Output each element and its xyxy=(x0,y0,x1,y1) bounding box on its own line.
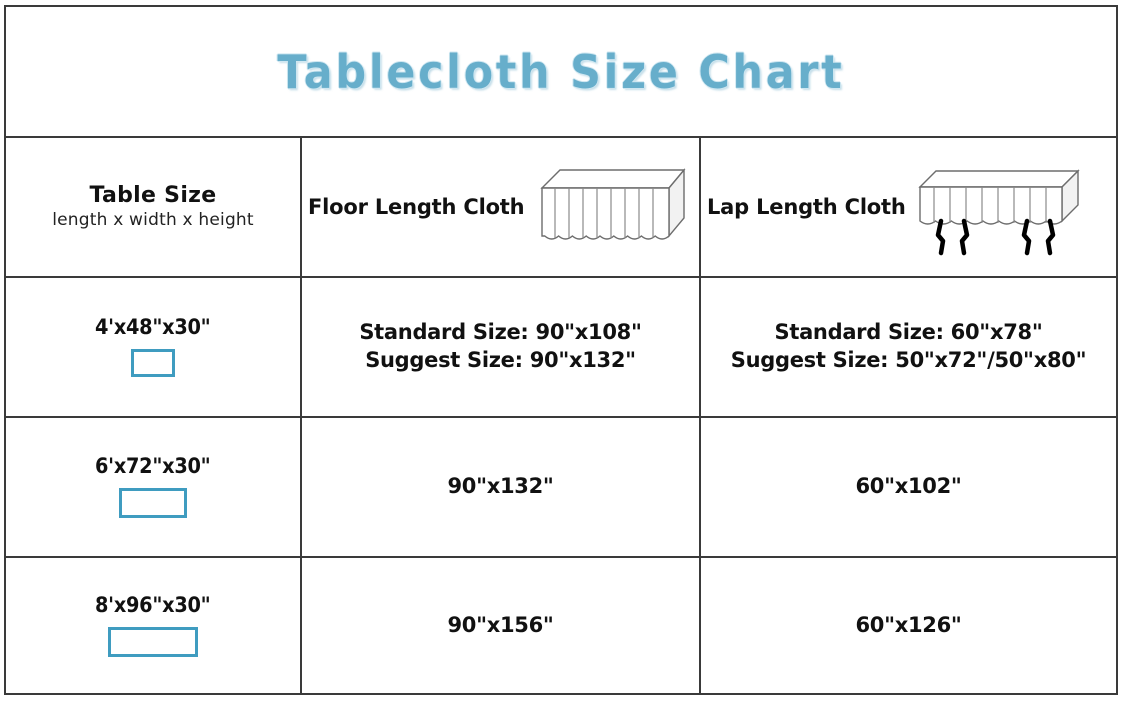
header-floor-length-label: Floor Length Cloth xyxy=(308,195,524,219)
table-size-value: 6'x72"x30" xyxy=(95,454,210,478)
lap-length-size: 60"x102" xyxy=(855,474,961,498)
table-row: 4'x48"x30" Standard Size: 90"x108" Sugge… xyxy=(6,276,1116,418)
lap-length-standard-size: Standard Size: 60"x78" xyxy=(775,320,1043,344)
table-row: 8'x96"x30" 90"x156" 60"x126" xyxy=(6,556,1116,694)
floor-length-size: 90"x132" xyxy=(447,474,553,498)
lap-length-size: 60"x126" xyxy=(855,613,961,637)
cell-table-size: 6'x72"x30" xyxy=(6,416,302,556)
floor-length-size: 90"x156" xyxy=(447,613,553,637)
cell-floor-length: Standard Size: 90"x108" Suggest Size: 90… xyxy=(302,276,701,416)
cell-lap-length: Standard Size: 60"x78" Suggest Size: 50"… xyxy=(701,276,1116,416)
table-size-value: 4'x48"x30" xyxy=(95,315,210,339)
floor-length-standard-size: Standard Size: 90"x108" xyxy=(359,320,641,344)
cell-floor-length: 90"x132" xyxy=(302,416,701,556)
size-table: Table Size length x width x height Floor… xyxy=(6,138,1116,693)
table-shape-indicator xyxy=(131,349,175,377)
table-row: 6'x72"x30" 90"x132" 60"x102" xyxy=(6,416,1116,558)
cell-lap-length: 60"x102" xyxy=(701,416,1116,556)
table-size-value: 8'x96"x30" xyxy=(95,593,210,617)
page-title: Tablecloth Size Chart xyxy=(277,45,844,99)
header-table-size-title: Table Size xyxy=(89,183,216,208)
lap-length-suggest-size: Suggest Size: 50"x72"/50"x80" xyxy=(731,346,1086,374)
cell-table-size: 8'x96"x30" xyxy=(6,556,302,694)
cell-lap-length: 60"x126" xyxy=(701,556,1116,694)
table-shape-indicator xyxy=(108,627,198,657)
floor-length-suggest-size: Suggest Size: 90"x132" xyxy=(359,346,641,374)
header-table-size-subtitle: length x width x height xyxy=(52,211,254,231)
cell-floor-length: 90"x156" xyxy=(302,556,701,694)
title-row: Tablecloth Size Chart xyxy=(6,7,1116,138)
cell-table-size: 4'x48"x30" xyxy=(6,276,302,416)
header-cell-floor-length: Floor Length Cloth xyxy=(302,138,701,276)
table-shape-indicator xyxy=(119,488,187,518)
floor-length-tablecloth-icon xyxy=(524,160,694,255)
header-lap-length-label: Lap Length Cloth xyxy=(707,195,906,219)
header-cell-table-size: Table Size length x width x height xyxy=(6,138,302,276)
lap-length-tablecloth-icon xyxy=(906,157,1091,257)
header-cell-lap-length: Lap Length Cloth xyxy=(701,138,1116,276)
table-header-row: Table Size length x width x height Floor… xyxy=(6,138,1116,278)
tablecloth-size-chart: Tablecloth Size Chart Table Size length … xyxy=(4,5,1118,695)
